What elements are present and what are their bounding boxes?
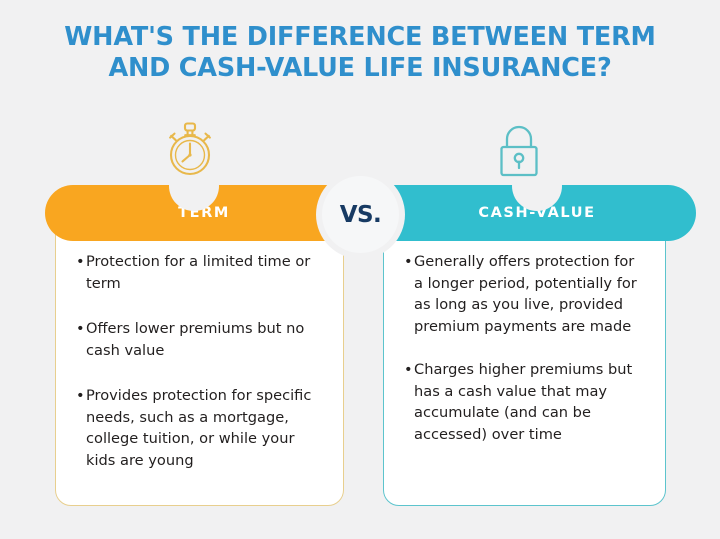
list-item-text: Generally offers protection for a longer…	[414, 251, 647, 337]
list-item: • Charges higher premiums but has a cash…	[404, 359, 647, 445]
bullet-marker-icon: •	[404, 359, 414, 381]
card-cash-value: CASH-VALUE • Generally offers protection…	[383, 186, 666, 506]
page-title: WHAT'S THE DIFFERENCE BETWEEN TERM AND C…	[0, 22, 720, 84]
bullet-marker-icon: •	[404, 251, 414, 273]
bullet-marker-icon: •	[76, 251, 86, 273]
bullet-list-cash-value: • Generally offers protection for a long…	[384, 251, 665, 467]
stopwatch-icon	[158, 118, 222, 182]
bullet-marker-icon: •	[76, 318, 86, 340]
list-item: • Offers lower premiums but no cash valu…	[76, 318, 325, 361]
list-item: • Provides protection for specific needs…	[76, 385, 325, 471]
list-item-text: Protection for a limited time or term	[86, 251, 325, 294]
infographic-page: WHAT'S THE DIFFERENCE BETWEEN TERM AND C…	[0, 0, 720, 539]
versus-label: VS.	[340, 202, 382, 228]
page-title-line-1: WHAT'S THE DIFFERENCE BETWEEN TERM	[14, 22, 706, 53]
list-item-text: Provides protection for specific needs, …	[86, 385, 325, 471]
list-item: • Generally offers protection for a long…	[404, 251, 647, 337]
bullet-marker-icon: •	[76, 385, 86, 407]
page-title-line-2: AND CASH-VALUE LIFE INSURANCE?	[14, 53, 706, 84]
list-item-text: Charges higher premiums but has a cash v…	[414, 359, 647, 445]
card-term: TERM • Protection for a limited time or …	[55, 186, 344, 506]
list-item-text: Offers lower premiums but no cash value	[86, 318, 325, 361]
bullet-list-term: • Protection for a limited time or term …	[56, 251, 343, 471]
card-header-term: TERM	[45, 185, 363, 241]
versus-badge: VS.	[322, 176, 399, 253]
list-item: • Protection for a limited time or term	[76, 251, 325, 294]
padlock-icon	[487, 118, 551, 182]
card-header-cash-value: CASH-VALUE	[378, 185, 696, 241]
